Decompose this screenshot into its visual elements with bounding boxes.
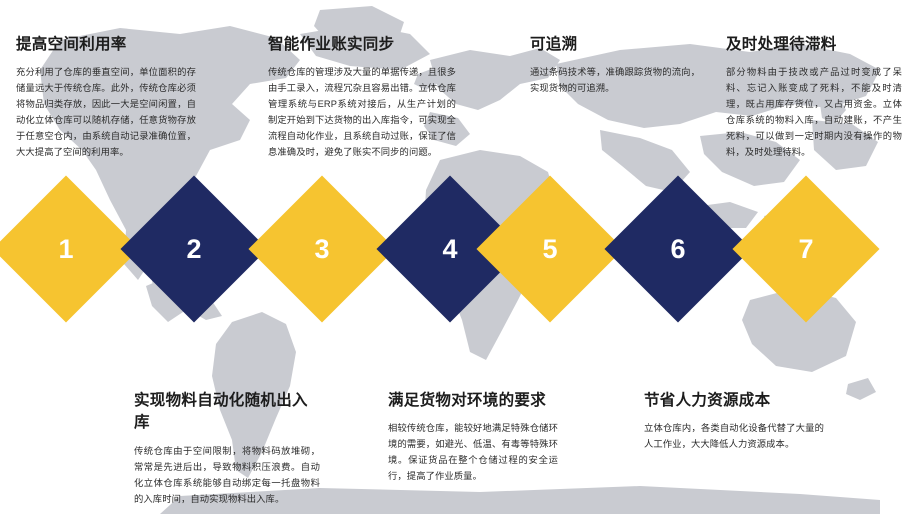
node-number-6: 6 [626, 197, 730, 301]
node-text-2: 实现物料自动化随机出入库 传统仓库由于空间限制，将物料码放堆砌，常常是先进后出，… [134, 390, 320, 508]
node-text-3: 智能作业账实同步 传统仓库的管理涉及大量的单据传递，且很多由手工录入，流程冗杂且… [268, 34, 456, 161]
node-number-7: 7 [754, 197, 858, 301]
node-diamond-7[interactable]: 7 [732, 175, 879, 322]
node-body-2: 传统仓库由于空间限制，将物料码放堆砌，常常是先进后出，导致物料积压浪费。自动化立… [134, 444, 320, 508]
node-title-5: 可追溯 [530, 34, 700, 56]
infographic-canvas: 1 2 3 4 5 6 7 提高空间利用率 充分利用了仓库的垂直空间，单位面积的… [0, 0, 912, 514]
node-text-5: 可追溯 通过条码技术等，准确跟踪货物的流向，实现货物的可追溯。 [530, 34, 700, 97]
node-title-7: 及时处理待滞料 [726, 34, 902, 56]
node-body-7: 部分物料由于技改或产品过时变成了呆料、忘记入账变成了死料，不能及时清理，既占用库… [726, 65, 902, 161]
node-number-2: 2 [142, 197, 246, 301]
node-number-1: 1 [14, 197, 118, 301]
node-title-3: 智能作业账实同步 [268, 34, 456, 56]
node-body-4: 相较传统仓库，能较好地满足特殊仓储环境的需要，如避光、低温、有毒等特殊环境。保证… [388, 421, 558, 485]
node-diamond-3[interactable]: 3 [248, 175, 395, 322]
node-text-6: 节省人力资源成本 立体仓库内，各类自动化设备代替了大量的人工作业，大大降低人力资… [644, 390, 824, 453]
node-diamond-6[interactable]: 6 [604, 175, 751, 322]
node-body-6: 立体仓库内，各类自动化设备代替了大量的人工作业，大大降低人力资源成本。 [644, 421, 824, 453]
node-diamond-5[interactable]: 5 [476, 175, 623, 322]
node-number-3: 3 [270, 197, 374, 301]
node-number-5: 5 [498, 197, 602, 301]
node-title-1: 提高空间利用率 [16, 34, 196, 56]
node-diamond-2[interactable]: 2 [120, 175, 267, 322]
node-text-4: 满足货物对环境的要求 相较传统仓库，能较好地满足特殊仓储环境的需要，如避光、低温… [388, 390, 558, 485]
node-text-1: 提高空间利用率 充分利用了仓库的垂直空间，单位面积的存储量远大于传统仓库。此外，… [16, 34, 196, 161]
node-title-2: 实现物料自动化随机出入库 [134, 390, 320, 435]
node-body-5: 通过条码技术等，准确跟踪货物的流向，实现货物的可追溯。 [530, 65, 700, 97]
node-body-1: 充分利用了仓库的垂直空间，单位面积的存储量远大于传统仓库。此外，传统仓库必须将物… [16, 65, 196, 161]
node-title-4: 满足货物对环境的要求 [388, 390, 558, 412]
node-body-3: 传统仓库的管理涉及大量的单据传递，且很多由手工录入，流程冗杂且容易出错。立体仓库… [268, 65, 456, 161]
node-title-6: 节省人力资源成本 [644, 390, 824, 412]
node-text-7: 及时处理待滞料 部分物料由于技改或产品过时变成了呆料、忘记入账变成了死料，不能及… [726, 34, 902, 161]
